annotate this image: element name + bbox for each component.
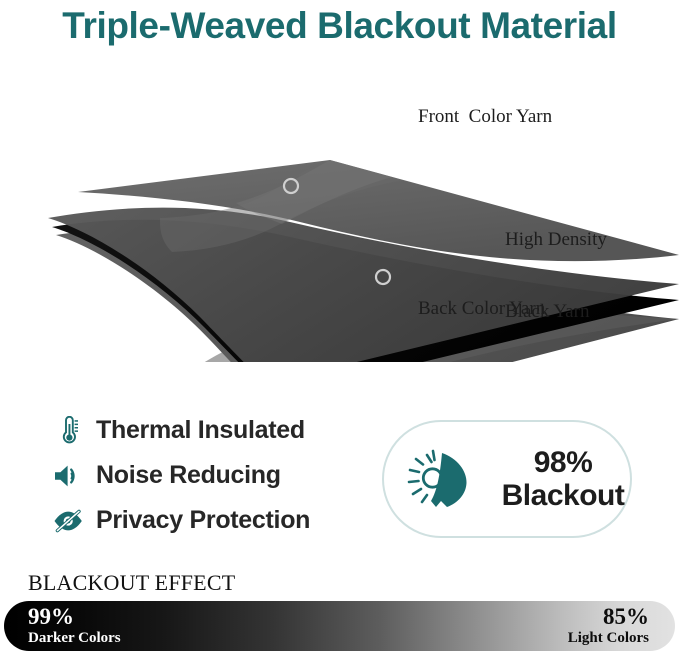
effect-right-label: Light Colors — [568, 629, 649, 647]
effect-left-percent: 99% — [28, 605, 121, 629]
callout-label-front-color-yarn: Front Color Yarn — [418, 105, 552, 129]
fabric-layers-diagram: Front Color Yarn High Density Black Yarn… — [0, 72, 679, 362]
blackout-badge: 98% Blackout — [382, 420, 632, 538]
eye-off-icon — [48, 504, 88, 538]
effect-left-label: Darker Colors — [28, 629, 121, 647]
blackout-badge-text: 98% Blackout — [496, 446, 630, 512]
speaker-icon — [48, 459, 88, 493]
blackout-percent: 98% — [534, 446, 593, 479]
blackout-label: Blackout — [502, 479, 625, 512]
feature-label-noise-reducing: Noise Reducing — [96, 461, 281, 490]
feature-list: Thermal Insulated Noise Reducing Privacy… — [48, 408, 358, 543]
feature-label-privacy-protection: Privacy Protection — [96, 506, 310, 535]
callout-label-line1: High Density — [505, 228, 607, 252]
effect-right-group: 85% Light Colors — [568, 605, 649, 647]
feature-item-noise-reducing: Noise Reducing — [48, 453, 358, 498]
effect-left-group: 99% Darker Colors — [28, 605, 121, 647]
blackout-effect-gradient-bar: 99% Darker Colors 85% Light Colors — [4, 601, 675, 651]
callout-label-back-color-yarn: Back Color Yarn — [418, 297, 545, 321]
page-title: Triple-Weaved Blackout Material — [0, 0, 679, 49]
feature-item-privacy-protection: Privacy Protection — [48, 498, 358, 543]
callout-label-high-density-black-yarn: High Density Black Yarn — [505, 180, 607, 372]
thermometer-icon — [48, 414, 88, 448]
sun-blocking-curtain-icon — [402, 443, 488, 515]
blackout-effect-heading: BLACKOUT EFFECT — [28, 570, 235, 596]
effect-right-percent: 85% — [568, 605, 649, 629]
feature-item-thermal-insulated: Thermal Insulated — [48, 408, 358, 453]
feature-label-thermal-insulated: Thermal Insulated — [96, 416, 305, 445]
